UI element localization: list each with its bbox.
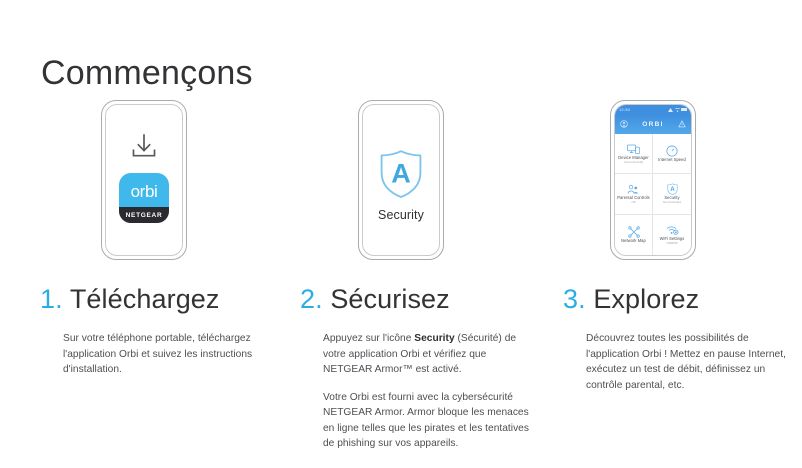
step-column-2: A Security 2. Sécurisez Appuyez sur l'ic… bbox=[290, 96, 550, 468]
orbi-wordmark: orbi bbox=[131, 183, 158, 200]
tile-subtitle: Connected (8) bbox=[624, 161, 644, 164]
step-heading-3: 3. Explorez bbox=[563, 284, 699, 315]
tile-parental-controls[interactable]: Parental Controls Off bbox=[615, 174, 653, 214]
step-paragraph: Appuyez sur l'icône Security (Sécurité) … bbox=[323, 331, 531, 378]
orbi-app-dashboard: 12:30 bbox=[615, 105, 691, 255]
phone-screen: orbi NETGEAR bbox=[105, 104, 183, 256]
phone-frame: A Security bbox=[358, 100, 444, 260]
step-heading-2: 2. Sécurisez bbox=[300, 284, 450, 315]
bold-term: Security bbox=[414, 333, 454, 344]
svg-text:A: A bbox=[391, 159, 411, 189]
step-title: Sécurisez bbox=[330, 284, 449, 314]
phone-screen: 12:30 bbox=[614, 104, 692, 256]
step-paragraph: Découvrez toutes les possibilités de l'a… bbox=[586, 331, 794, 393]
tile-security[interactable]: A Security Not Activated bbox=[653, 174, 691, 214]
phone-screen: A Security bbox=[362, 104, 440, 256]
shield-a-icon: A bbox=[667, 183, 678, 195]
step-title: Explorez bbox=[593, 284, 699, 314]
page-title: Commençons bbox=[41, 56, 253, 92]
phone-frame: orbi NETGEAR bbox=[101, 100, 187, 260]
phone-illustration-download: orbi NETGEAR bbox=[30, 96, 290, 268]
tile-network-map[interactable]: Network Map bbox=[615, 215, 653, 255]
page-root: Commençons bbox=[0, 0, 802, 468]
alerts-icon[interactable] bbox=[678, 120, 686, 128]
tile-internet-speed[interactable]: Internet Speed bbox=[653, 134, 691, 174]
app-bar-title: ORBI bbox=[642, 121, 663, 128]
devices-icon bbox=[627, 144, 640, 155]
security-label: Security bbox=[363, 208, 439, 222]
signal-icon bbox=[668, 108, 673, 112]
phone-illustration-security: A Security bbox=[290, 96, 550, 268]
svg-text:A: A bbox=[670, 187, 675, 194]
phone-illustration-dashboard: 12:30 bbox=[553, 96, 802, 268]
step-column-1: orbi NETGEAR 1. Téléchargez Sur votre té… bbox=[30, 96, 290, 468]
orbi-app-icon-bottom: NETGEAR bbox=[119, 207, 169, 223]
tile-subtitle: ORBI58 bbox=[666, 242, 677, 245]
parental-controls-icon bbox=[627, 184, 640, 195]
speed-gauge-icon bbox=[666, 145, 678, 157]
tile-subtitle: Off bbox=[631, 201, 635, 204]
wifi-settings-icon bbox=[666, 224, 679, 236]
phone-frame: 12:30 bbox=[610, 100, 696, 260]
battery-icon bbox=[681, 108, 687, 111]
account-icon[interactable] bbox=[620, 120, 628, 128]
step-heading-1: 1. Téléchargez bbox=[40, 284, 220, 315]
orbi-app-icon-top: orbi bbox=[119, 173, 169, 207]
network-map-icon bbox=[628, 226, 640, 238]
download-icon bbox=[129, 133, 159, 166]
step-number: 3. bbox=[563, 284, 586, 314]
status-bar-indicators bbox=[668, 108, 687, 112]
step-body-2: Appuyez sur l'icône Security (Sécurité) … bbox=[323, 331, 531, 452]
step-title: Téléchargez bbox=[70, 284, 220, 314]
step-paragraph: Sur votre téléphone portable, télécharge… bbox=[63, 331, 271, 378]
step-body-1: Sur votre téléphone portable, télécharge… bbox=[63, 331, 271, 378]
app-bar: ORBI bbox=[615, 114, 691, 134]
tile-wifi-settings[interactable]: WiFi Settings ORBI58 bbox=[653, 215, 691, 255]
wifi-icon bbox=[675, 108, 680, 112]
orbi-app-icon: orbi NETGEAR bbox=[119, 173, 169, 223]
shield-a-icon: A bbox=[378, 149, 424, 204]
step-body-3: Découvrez toutes les possibilités de l'a… bbox=[586, 331, 794, 393]
tile-subtitle: Not Activated bbox=[663, 201, 681, 204]
dashboard-grid: Device Manager Connected (8) bbox=[615, 134, 691, 255]
step-number: 2. bbox=[300, 284, 323, 314]
status-bar-time: 12:30 bbox=[619, 107, 630, 112]
step-number: 1. bbox=[40, 284, 63, 314]
tile-device-manager[interactable]: Device Manager Connected (8) bbox=[615, 134, 653, 174]
netgear-brandmark: NETGEAR bbox=[126, 212, 163, 219]
tile-title: Internet Speed bbox=[658, 158, 686, 162]
status-bar: 12:30 bbox=[615, 105, 691, 114]
steps-container: orbi NETGEAR 1. Téléchargez Sur votre té… bbox=[0, 96, 802, 468]
step-paragraph: Votre Orbi est fourni avec la cybersécur… bbox=[323, 390, 531, 452]
step-column-3: 12:30 bbox=[553, 96, 802, 468]
tile-title: Network Map bbox=[621, 239, 646, 243]
